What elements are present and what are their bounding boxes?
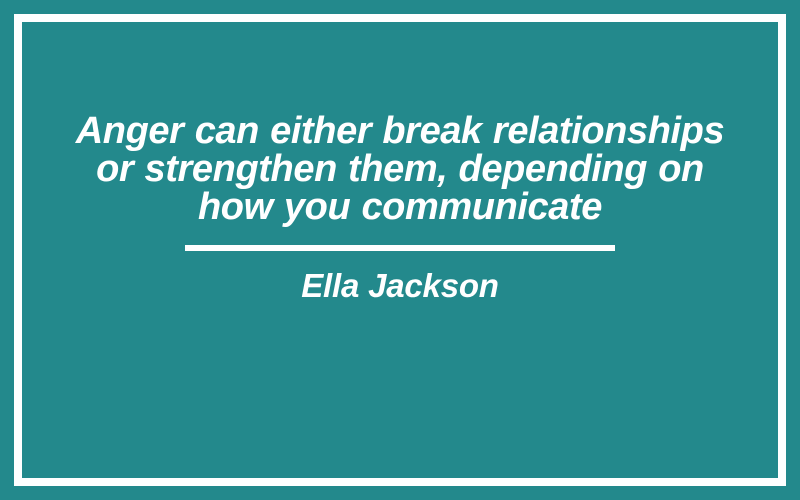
card-white-frame: Anger can either break relationships or … [14, 14, 786, 486]
quote-content-stack: Anger can either break relationships or … [22, 112, 778, 304]
divider-rule [185, 245, 615, 251]
quote-text: Anger can either break relationships or … [55, 112, 745, 226]
card-inner-surface: Anger can either break relationships or … [22, 22, 778, 478]
quote-card: Anger can either break relationships or … [0, 0, 800, 500]
author-name: Ella Jackson [301, 268, 499, 304]
